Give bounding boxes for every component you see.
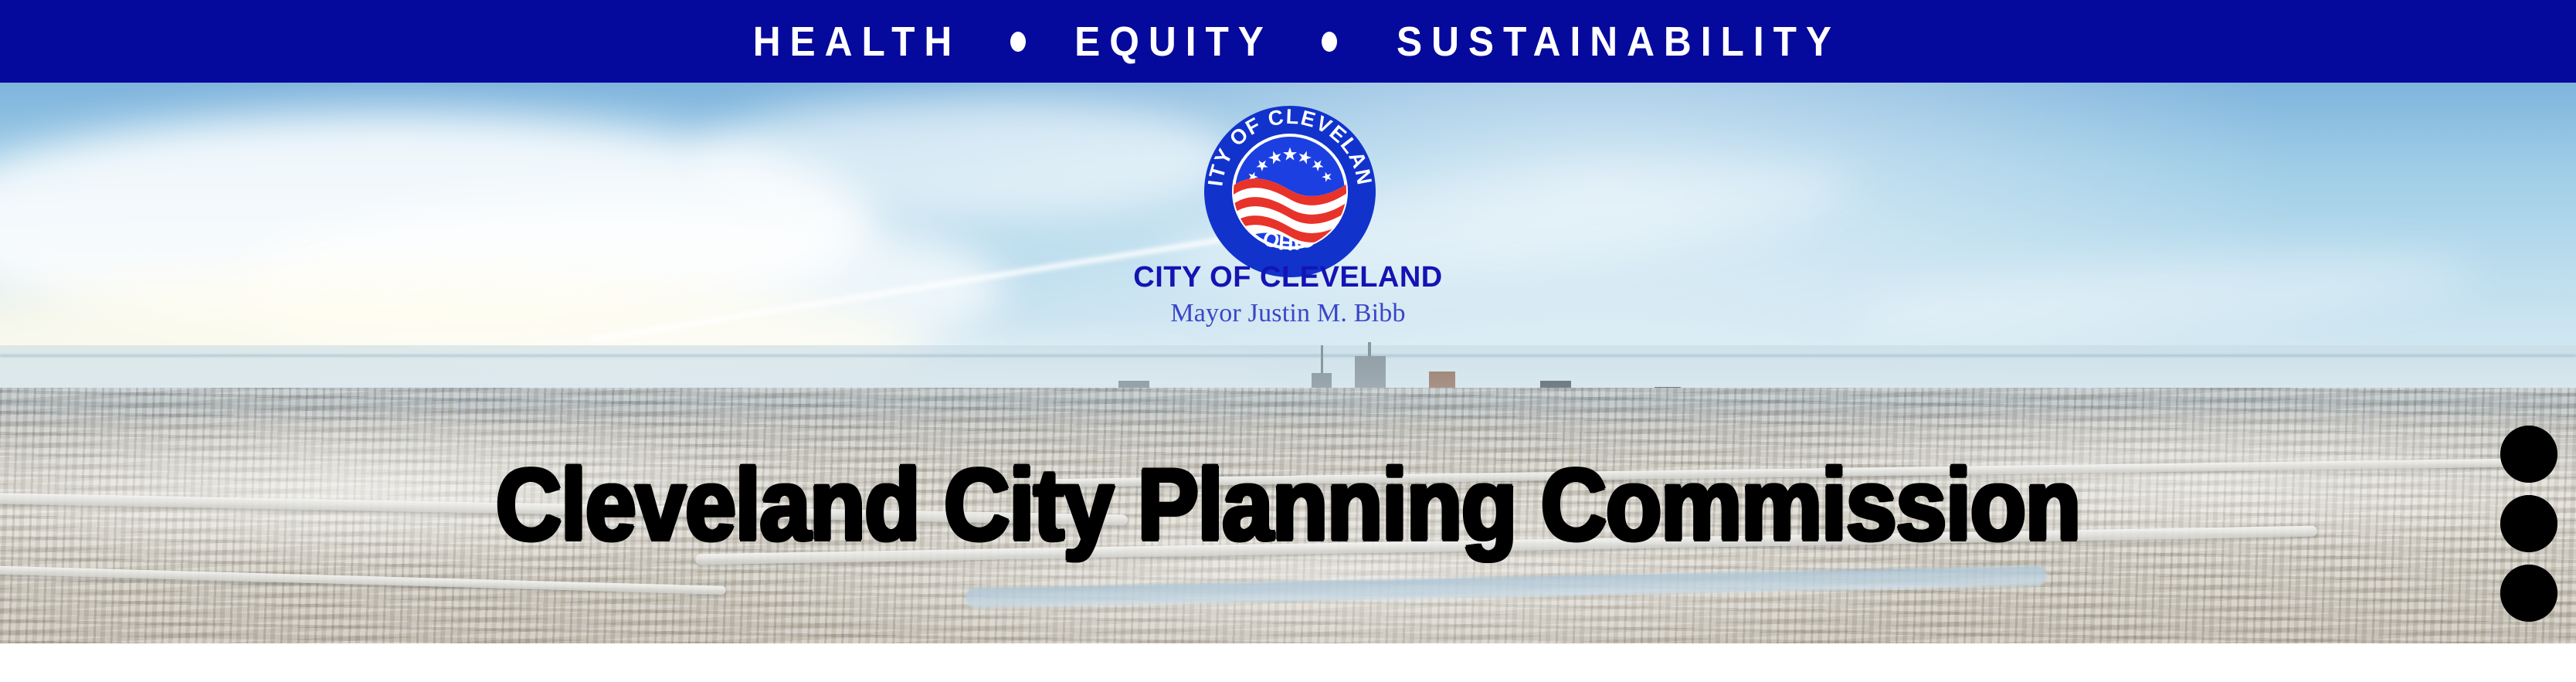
slogan-word-health: HEALTH	[753, 21, 962, 63]
instagram-icon	[2500, 495, 2557, 552]
seal-icon: CITY OF CLEVELAND OHIO	[1197, 99, 1383, 284]
page-root: HEALTH EQUITY SUSTAINABILITY	[0, 0, 2576, 682]
snow-haze	[0, 388, 2576, 643]
social-link-youtube[interactable]	[2500, 426, 2557, 483]
slogan-separator-dot-1	[1010, 32, 1026, 52]
slogan-word-sustainability: SUSTAINABILITY	[1397, 21, 1841, 63]
slogan-word-equity: EQUITY	[1074, 21, 1273, 63]
slogan-separator-dot-2	[1322, 32, 1337, 52]
slogan-inner: HEALTH EQUITY SUSTAINABILITY	[744, 21, 1860, 63]
cloud	[695, 98, 1236, 222]
social-link-facebook[interactable]	[2500, 565, 2557, 622]
youtube-icon	[2500, 426, 2557, 483]
facebook-icon	[2500, 565, 2557, 622]
social-link-instagram[interactable]	[2500, 495, 2557, 552]
social-links	[2499, 426, 2559, 622]
city-of-cleveland-seal: CITY OF CLEVELAND OHIO	[1197, 99, 1383, 284]
slogan-bar: HEALTH EQUITY SUSTAINABILITY	[0, 0, 2576, 83]
